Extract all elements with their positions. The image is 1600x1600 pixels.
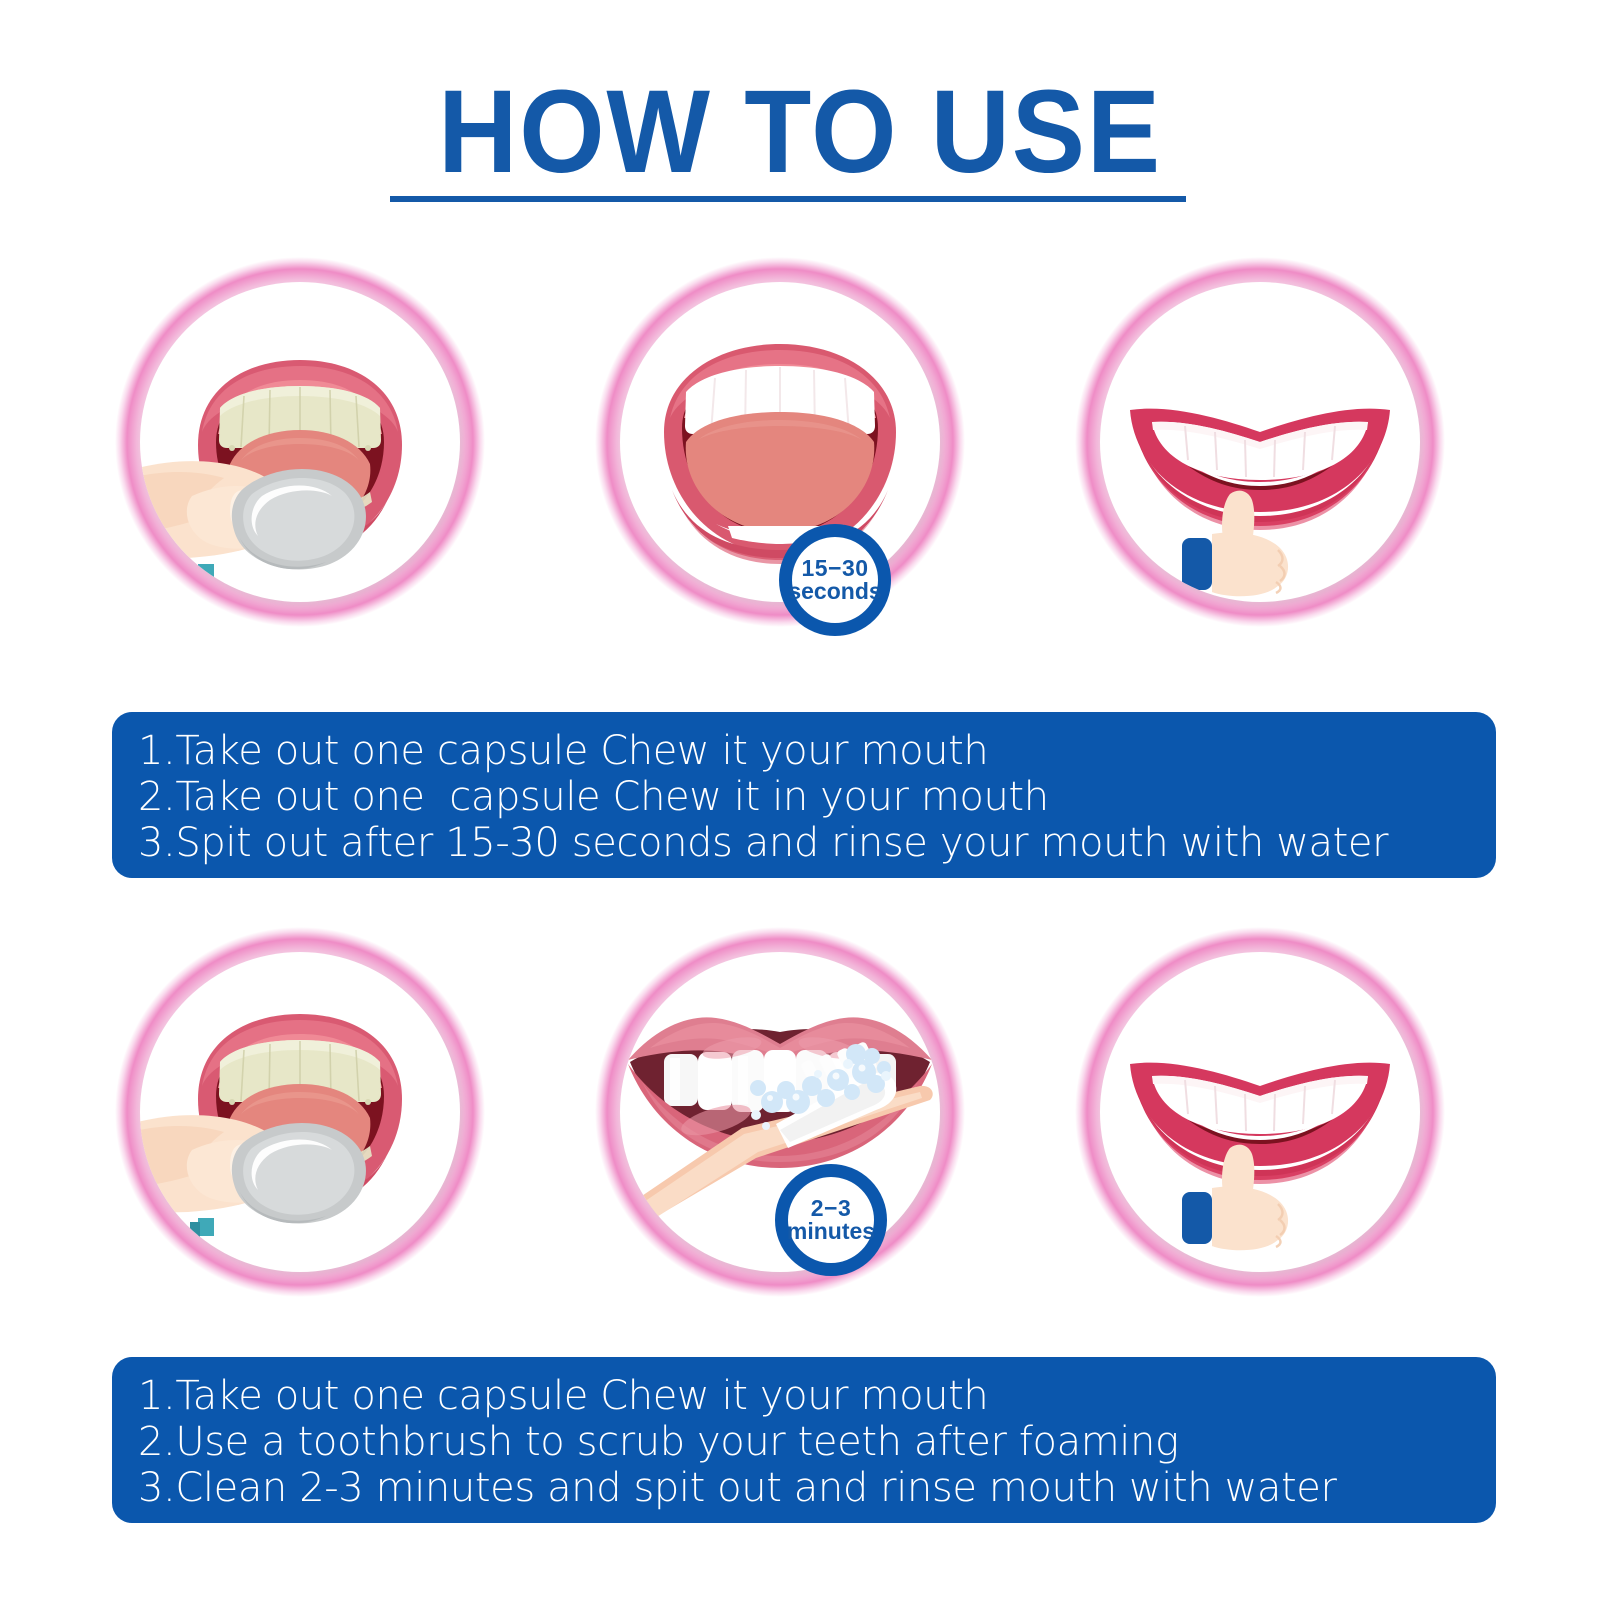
badge-line-2: seconds [788, 580, 881, 603]
mouth-with-capsule-illustration [140, 952, 460, 1272]
title-underline-rule [390, 196, 1186, 202]
illustration-panel-capsule-into-mouth-2 [140, 952, 460, 1272]
instruction-line: 3.Clean 2-3 minutes and spit out and rin… [138, 1465, 1496, 1511]
badge-line-1: 15−30 [801, 557, 868, 580]
instruction-line: 2.Take out one capsule Chew it in your m… [138, 774, 1496, 820]
instruction-line: 3.Spit out after 15-30 seconds and rinse… [138, 820, 1496, 866]
page-title-wrap: HOW TO USE [0, 72, 1600, 192]
instruction-line: 1.Take out one capsule Chew it your mout… [138, 728, 1496, 774]
infographic-page: HOW TO USE [0, 0, 1600, 1600]
illustration-panel-brush-teeth: 2−3 minutes [620, 952, 940, 1272]
instruction-line: 1.Take out one capsule Chew it your mout… [138, 1373, 1496, 1419]
instruction-box-1: 1.Take out one capsule Chew it your mout… [112, 712, 1496, 878]
smile-thumbs-up-illustration [1100, 282, 1420, 602]
badge-line-1: 2−3 [811, 1197, 852, 1220]
illustration-panel-smile-thumbs-up-1 [1100, 282, 1420, 602]
page-title: HOW TO USE [56, 72, 1544, 192]
instruction-box-2: 1.Take out one capsule Chew it your mout… [112, 1357, 1496, 1523]
time-badge-2-3-minutes: 2−3 minutes [775, 1164, 887, 1276]
mouth-with-capsule-illustration [140, 282, 460, 602]
open-mouth-illustration [620, 282, 940, 602]
smile-thumbs-up-illustration [1100, 952, 1420, 1272]
instruction-line: 2.Use a toothbrush to scrub your teeth a… [138, 1419, 1496, 1465]
badge-line-2: minutes [787, 1220, 875, 1243]
time-badge-15-30-seconds: 15−30 seconds [779, 524, 891, 636]
illustration-panel-capsule-into-mouth-1 [140, 282, 460, 602]
illustration-panel-chew-in-mouth: 15−30 seconds [620, 282, 940, 602]
illustration-panel-smile-thumbs-up-2 [1100, 952, 1420, 1272]
